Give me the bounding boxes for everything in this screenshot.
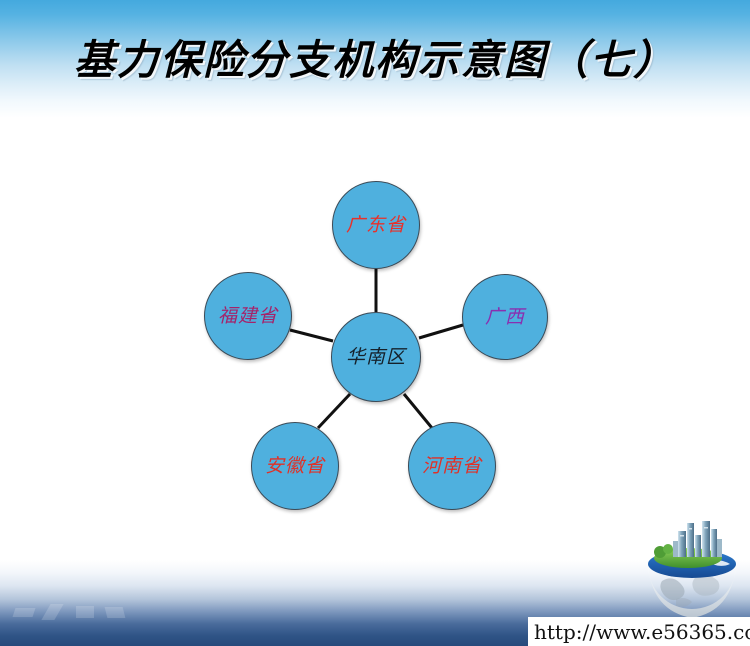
connector-henan — [404, 394, 432, 428]
node-label-huanan: 华南区 — [346, 348, 406, 367]
building-3 — [695, 535, 701, 557]
tree-icon-2 — [663, 544, 673, 554]
building-window-3 — [704, 527, 708, 529]
website-url-box[interactable]: http://www.e56365.com — [528, 617, 750, 646]
globe-city-icon — [636, 519, 748, 623]
building-window-1 — [680, 535, 684, 537]
node-fujian[interactable]: 福建省 — [204, 272, 292, 360]
building-4 — [702, 521, 710, 557]
building-1 — [678, 531, 686, 557]
node-henan[interactable]: 河南省 — [408, 422, 496, 510]
website-url-text: http://www.e56365.com — [528, 620, 750, 644]
node-label-guangxi: 广西 — [485, 308, 525, 327]
globe-continent-2 — [692, 576, 719, 596]
building-7 — [717, 539, 722, 557]
ocean-watermark-shapes — [8, 598, 198, 628]
node-guangdong[interactable]: 广东省 — [332, 181, 420, 269]
building-5 — [711, 529, 717, 557]
node-center-huanan[interactable]: 华南区 — [331, 312, 421, 402]
building-6 — [673, 541, 678, 557]
watermark-shape-2 — [41, 604, 63, 620]
globe-continent-1 — [660, 578, 684, 600]
node-label-fujian: 福建省 — [218, 307, 278, 326]
node-label-henan: 河南省 — [422, 457, 482, 476]
node-label-anhui: 安徽省 — [265, 457, 325, 476]
slide-canvas: 基力保险分支机构示意图（七） 广东省 广西 福建省 安徽省 河南省 华南区 — [0, 0, 750, 646]
watermark-shape-3 — [76, 606, 94, 618]
node-anhui[interactable]: 安徽省 — [251, 422, 339, 510]
building-window-2 — [689, 528, 692, 530]
watermark-shape-1 — [13, 608, 36, 617]
globe-continent-3 — [676, 598, 692, 607]
connector-fujian — [290, 330, 333, 341]
node-guangxi[interactable]: 广西 — [462, 274, 548, 360]
connector-anhui — [318, 394, 350, 428]
connector-guangxi — [419, 325, 463, 338]
watermark-shape-4 — [105, 607, 126, 618]
node-label-guangdong: 广东省 — [346, 216, 406, 235]
